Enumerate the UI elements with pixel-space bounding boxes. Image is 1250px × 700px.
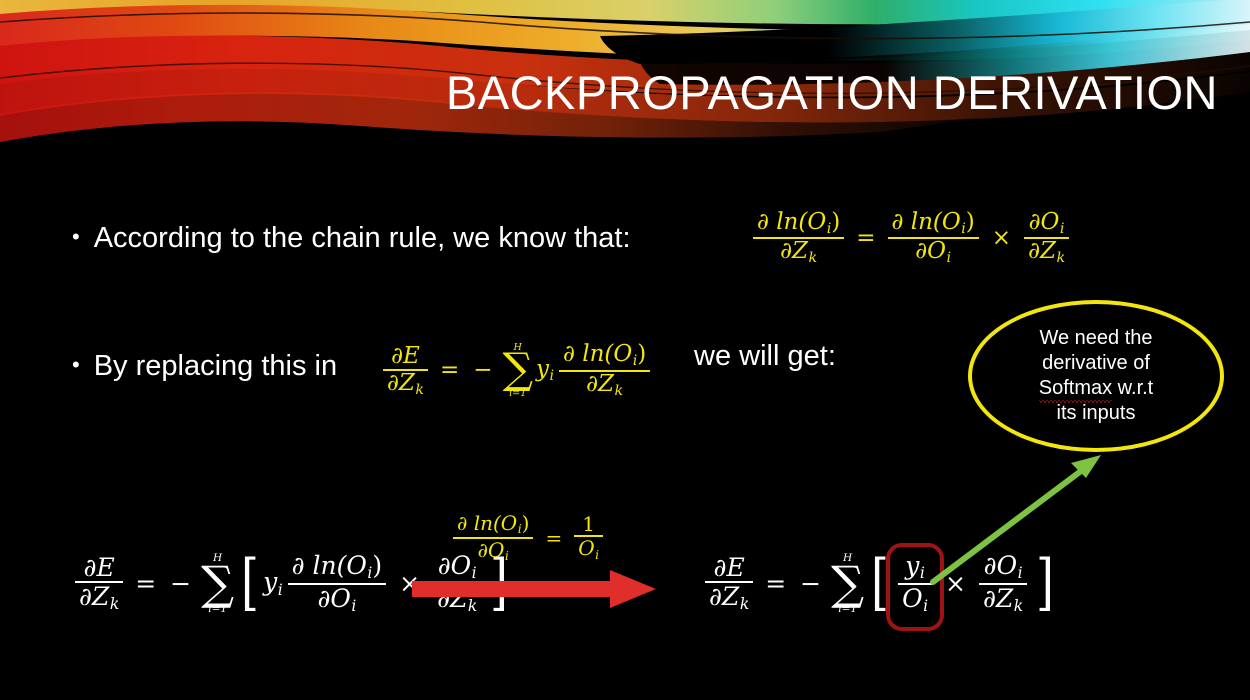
numerator-sub: i bbox=[1060, 221, 1065, 237]
minus-sign: − bbox=[170, 571, 191, 596]
callout-line-2: derivative of bbox=[1042, 351, 1150, 376]
denominator-text: ∂O bbox=[317, 584, 350, 613]
slide-title: BACKPROPAGATION DERIVATION bbox=[0, 68, 1218, 117]
numerator-text: ∂O bbox=[1029, 209, 1060, 235]
frac-denominator: ∂Oi bbox=[911, 239, 955, 266]
green-pointer-arrow-icon bbox=[925, 445, 1110, 590]
numerator-close: ) bbox=[637, 341, 646, 367]
bullet-item-1: • According to the chain rule, we know t… bbox=[72, 222, 631, 255]
denominator-sub: k bbox=[740, 595, 749, 613]
denominator-sub: k bbox=[1056, 250, 1065, 266]
callout-line-4: its inputs bbox=[1057, 401, 1136, 426]
denominator-sub: i bbox=[947, 250, 952, 266]
frac-numerator: ∂E bbox=[387, 344, 424, 369]
denominator-sub: k bbox=[1014, 597, 1023, 615]
frac-denominator: ∂Zk bbox=[383, 371, 428, 398]
denominator-text: ∂O bbox=[915, 238, 946, 264]
callout-line-1: We need the bbox=[1039, 326, 1152, 351]
frac-dOi-dZk: ∂Oi ∂Zk bbox=[1024, 210, 1069, 267]
numerator-text: ∂E bbox=[714, 553, 745, 582]
frac-numerator: 1 bbox=[578, 513, 599, 535]
frac-denominator: ∂Zk bbox=[705, 583, 753, 614]
frac-denominator: ∂Oi bbox=[313, 585, 360, 616]
summation-lower-limit: i=1 bbox=[509, 389, 526, 399]
bullet-text-2: By replacing this in bbox=[94, 350, 337, 383]
denominator-text: ∂Z bbox=[780, 238, 808, 264]
denominator-sub: k bbox=[110, 595, 119, 613]
frac-denominator: ∂Zk bbox=[776, 239, 821, 266]
summation-lower-limit: i=1 bbox=[838, 604, 857, 615]
denominator-sub: i bbox=[351, 597, 356, 615]
equals-sign: = bbox=[440, 359, 459, 382]
frac-numerator: ∂ ln(Oi) bbox=[888, 210, 979, 237]
bullet-marker-icon: • bbox=[72, 354, 80, 376]
denominator-sub: i bbox=[505, 548, 509, 563]
denominator-sub: k bbox=[615, 383, 624, 399]
bracket-open: [ bbox=[241, 565, 259, 602]
red-transition-arrow-icon bbox=[412, 570, 656, 608]
misspelled-word: Softmax bbox=[1039, 376, 1112, 401]
frac-dE-dZk: ∂E ∂Zk bbox=[383, 344, 428, 398]
bullet-marker-icon: • bbox=[72, 226, 80, 248]
denominator-text: ∂Z bbox=[387, 370, 415, 396]
frac-one-over-Oi: 1 Oi bbox=[574, 513, 603, 562]
times-sign: × bbox=[992, 227, 1011, 250]
denominator-text: O bbox=[578, 536, 594, 560]
y-subscript: i bbox=[549, 368, 554, 384]
denominator-sub: k bbox=[808, 250, 817, 266]
frac-dlnO-dOi: ∂ ln(Oi) ∂Oi bbox=[453, 512, 533, 564]
summation-symbol: H ∑ i=1 bbox=[503, 343, 533, 399]
minus-sign: − bbox=[800, 571, 821, 596]
frac-dlnO-dZk: ∂ ln(Oi) ∂Zk bbox=[753, 210, 844, 267]
equals-sign: = bbox=[765, 571, 786, 596]
numerator-close: ) bbox=[966, 209, 975, 235]
numerator-close: ) bbox=[522, 511, 530, 535]
frac-denominator: Oi bbox=[574, 537, 603, 562]
frac-dE-dZk: ∂E ∂Zk bbox=[705, 554, 753, 614]
summation-symbol: H ∑ i=1 bbox=[201, 553, 234, 614]
frac-denominator: ∂Zk bbox=[1024, 239, 1069, 266]
frac-dlnO-dOi: ∂ ln(Oi) ∂Oi bbox=[288, 552, 386, 616]
sigma-glyph: ∑ bbox=[831, 565, 864, 603]
numerator-text: ∂ ln(O bbox=[892, 209, 961, 235]
frac-numerator: ∂ ln(Oi) bbox=[288, 552, 386, 583]
frac-numerator: ∂E bbox=[710, 554, 749, 581]
equation-error-derivative: ∂E ∂Zk = − H ∑ i=1 yi ∂ ln(Oi) bbox=[378, 342, 655, 399]
bullet-item-2: • By replacing this in bbox=[72, 350, 337, 383]
frac-numerator: ∂ ln(Oi) bbox=[453, 512, 533, 537]
slide: BACKPROPAGATION DERIVATION • According t… bbox=[0, 0, 1250, 700]
bullet-text-2-tail: we will get: bbox=[694, 340, 836, 372]
equation-log-derivative: ∂ ln(Oi) ∂Oi = 1 Oi bbox=[448, 512, 608, 564]
denominator-text: ∂Z bbox=[79, 582, 109, 611]
frac-denominator: ∂Zk bbox=[582, 372, 627, 399]
numerator-text: ∂E bbox=[391, 343, 420, 369]
denominator-sub: i bbox=[595, 547, 599, 562]
summation-symbol: H ∑ i=1 bbox=[831, 553, 864, 614]
numerator-close: ) bbox=[831, 209, 840, 235]
callout-line-3: Softmax w.r.t bbox=[1039, 376, 1153, 401]
summation-lower-limit: i=1 bbox=[208, 604, 227, 615]
numerator-text: ∂ ln(O bbox=[563, 341, 632, 367]
y-symbol: y bbox=[536, 356, 549, 382]
denominator-text: ∂Z bbox=[1028, 238, 1056, 264]
denominator-text: ∂Z bbox=[586, 371, 614, 397]
numerator-text: ∂E bbox=[84, 553, 115, 582]
equals-sign: = bbox=[545, 528, 562, 548]
equals-sign: = bbox=[856, 227, 875, 250]
equation-error-derivative-row: ∂E ∂Zk = − H ∑ i=1 yi ∂ ln(Oi) bbox=[378, 340, 836, 399]
numerator-text: ∂ ln(O bbox=[292, 551, 367, 580]
frac-numerator: ∂ ln(Oi) bbox=[753, 210, 844, 237]
denominator-text: ∂Z bbox=[709, 582, 739, 611]
sigma-glyph: ∑ bbox=[201, 565, 234, 603]
frac-dE-dZk: ∂E ∂Zk bbox=[75, 554, 123, 614]
numerator-text: ∂ ln(O bbox=[757, 209, 826, 235]
frac-dlnO-dZk: ∂ ln(Oi) ∂Zk bbox=[559, 342, 650, 399]
frac-denominator: ∂Zk bbox=[75, 583, 123, 614]
frac-dlnO-dOi: ∂ ln(Oi) ∂Oi bbox=[888, 210, 979, 267]
frac-numerator: ∂ ln(Oi) bbox=[559, 342, 650, 369]
equation-chain-rule: ∂ ln(Oi) ∂Zk = ∂ ln(Oi) ∂Oi × ∂Oi ∂Zk bbox=[748, 210, 1074, 267]
equals-sign: = bbox=[135, 571, 156, 596]
y-term: yi bbox=[536, 358, 554, 383]
denominator-text: ∂O bbox=[478, 538, 505, 562]
bullet-text-1: According to the chain rule, we know tha… bbox=[94, 222, 631, 255]
frac-numerator: ∂E bbox=[80, 554, 119, 581]
frac-numerator: ∂Oi bbox=[1025, 210, 1069, 237]
y-symbol: y bbox=[263, 567, 277, 596]
numerator-close: ) bbox=[372, 551, 382, 580]
y-term: yi bbox=[263, 569, 283, 598]
y-subscript: i bbox=[278, 581, 283, 599]
callout-ellipse: We need the derivative of Softmax w.r.t … bbox=[968, 300, 1224, 452]
frac-denominator: ∂Oi bbox=[474, 539, 513, 564]
denominator-sub: k bbox=[415, 382, 424, 398]
minus-sign: − bbox=[473, 359, 492, 382]
numerator-text: ∂ ln(O bbox=[457, 511, 517, 535]
sigma-glyph: ∑ bbox=[503, 353, 533, 388]
callout-line-3-rest: w.r.t bbox=[1112, 377, 1153, 399]
